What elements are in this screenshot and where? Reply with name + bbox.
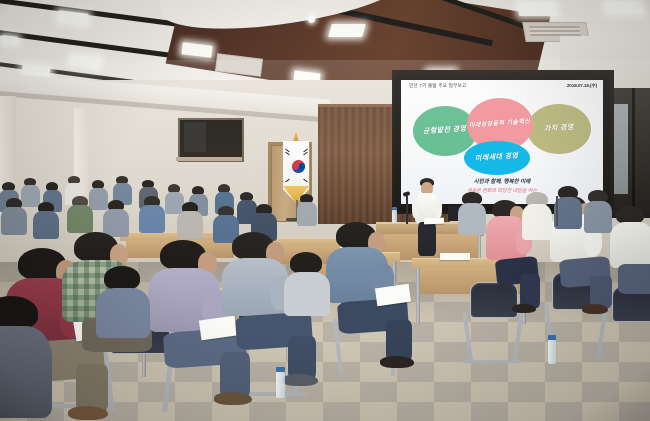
ceiling-light-9 xyxy=(517,2,557,16)
person-torso xyxy=(610,222,650,268)
person-leg xyxy=(618,264,650,294)
chair-foot-rail xyxy=(462,360,522,363)
person-shoe xyxy=(380,356,414,368)
presenter-arm-right xyxy=(435,198,442,218)
water-bottle-floor-2 xyxy=(548,340,556,364)
cabinet-divider xyxy=(632,86,635,218)
person-shoe xyxy=(68,406,108,420)
person-torso xyxy=(103,209,129,237)
table-right-leg-1 xyxy=(416,268,420,324)
water-bottle-floor-cap xyxy=(276,367,285,372)
table-papers-right xyxy=(440,253,470,260)
person-torso xyxy=(522,204,552,240)
person-shoe xyxy=(214,392,252,405)
person-hair xyxy=(104,266,140,290)
person-leg xyxy=(220,352,250,398)
microphone-stand xyxy=(406,196,408,224)
ceiling-spot-light xyxy=(308,16,315,23)
chair-back xyxy=(470,282,518,318)
person-torso xyxy=(33,211,59,239)
conference-room-photo: 민선 7기 출범 주요 업무보고 2018.07.18.(수) 균형발전 경영 … xyxy=(0,0,650,421)
slide-circle-cyan-label: 미래세대 경영 xyxy=(475,153,519,163)
person-torso xyxy=(0,326,52,418)
person-hair xyxy=(290,252,322,274)
person-leg xyxy=(76,364,108,412)
person-leg xyxy=(520,274,540,308)
slide-circle-olive-label: 가치 경영 xyxy=(544,124,574,133)
ceiling-air-vent-right-slots xyxy=(529,26,581,36)
presenter-legs xyxy=(418,222,436,256)
water-bottle-floor-2-cap xyxy=(548,335,556,340)
presenter-arm-left xyxy=(412,198,419,218)
camera-tripod xyxy=(556,196,558,226)
slide-circle-olive: 가치 경영 xyxy=(527,104,591,154)
person-torso xyxy=(554,197,582,229)
ceiling-light-7 xyxy=(328,24,366,37)
slide-circle-green-label: 균형발전 경영 xyxy=(423,126,467,136)
water-bottle-podium-cap xyxy=(392,207,397,210)
slide-header-title: 민선 7기 출범 주요 업무보고 xyxy=(409,83,466,89)
slide-circle-pink-label: 미래성장동력 기술혁신 xyxy=(469,118,531,130)
slide-circle-cyan: 미래세대 경영 xyxy=(464,141,530,175)
booth-window-reflection xyxy=(184,122,206,152)
person-torso xyxy=(1,207,27,235)
water-bottle-floor xyxy=(276,372,285,398)
ceiling-light-10 xyxy=(605,2,643,14)
cabinet-glass-strip xyxy=(612,104,628,194)
person-torso xyxy=(458,203,486,235)
person-shoe xyxy=(582,304,608,314)
booth-window-sill xyxy=(176,157,242,161)
person-torso xyxy=(284,272,330,316)
presenter-documents xyxy=(424,218,444,225)
person-torso xyxy=(96,288,150,338)
water-bottle-podium xyxy=(392,210,397,223)
person-shoe xyxy=(512,304,536,313)
person-torso xyxy=(139,205,165,233)
person-torso xyxy=(584,201,612,233)
person-torso xyxy=(67,205,93,233)
person-shoe xyxy=(282,374,318,386)
slide-header-date: 2018.07.18.(수) xyxy=(567,83,597,89)
person-torso xyxy=(177,211,203,239)
